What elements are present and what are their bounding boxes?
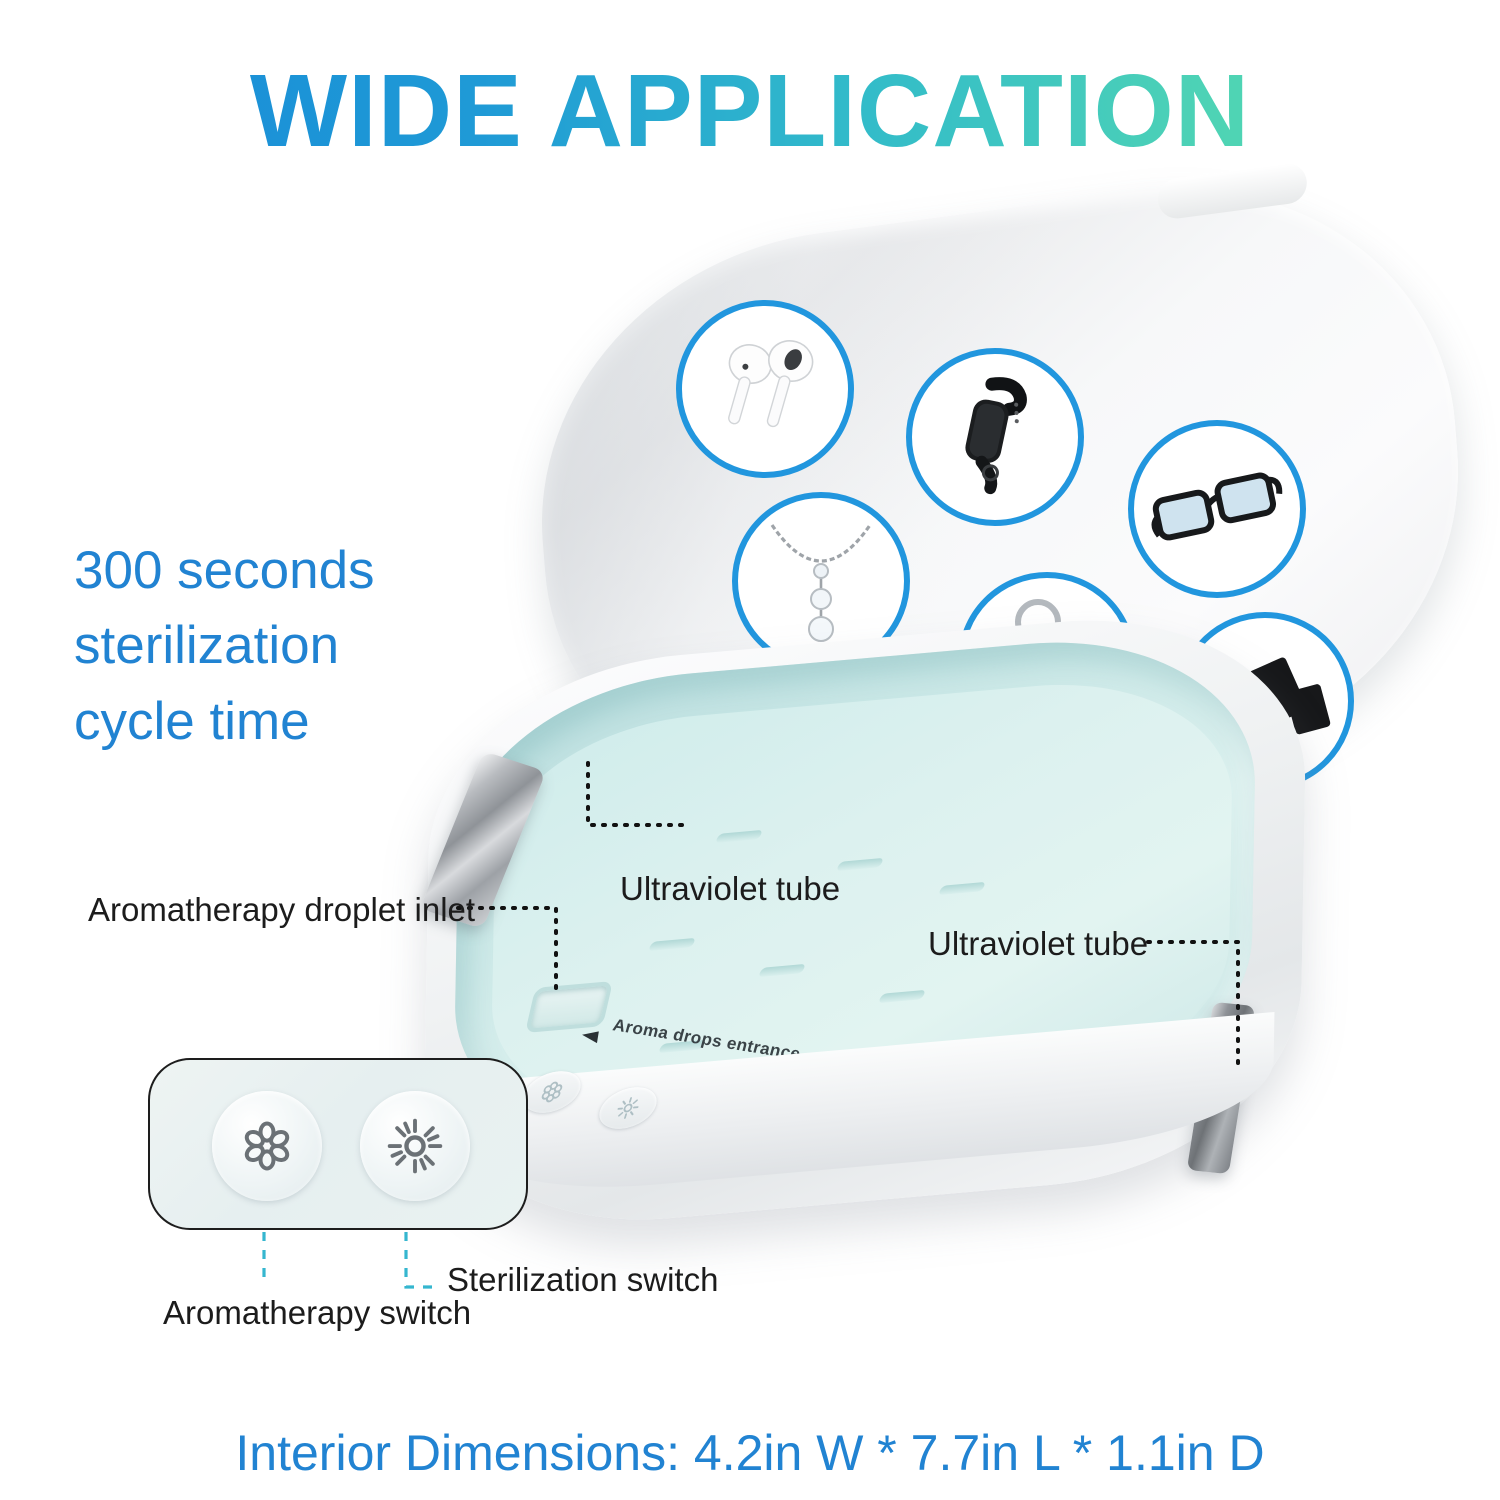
fitness-band-icon (935, 372, 1055, 502)
interior-dimensions: Interior Dimensions: 4.2in W * 7.7in L *… (0, 1424, 1500, 1482)
necklace-icon (756, 511, 886, 651)
callout-aromatherapy-switch: Aromatherapy switch (163, 1294, 471, 1332)
panel-sterilization-switch[interactable] (360, 1091, 470, 1201)
flower-icon (236, 1115, 298, 1177)
callout-sterilization-switch: Sterilization switch (447, 1261, 718, 1299)
callout-uv-tube-right: Ultraviolet tube (928, 925, 1148, 963)
callout-uv-tube-left: Ultraviolet tube (620, 870, 840, 908)
product-illustration: Aroma drops entrance (0, 0, 1500, 1500)
aroma-arrow-icon (581, 1029, 599, 1043)
sun-icon (612, 1095, 643, 1122)
callout-aromatherapy-inlet: Aromatherapy droplet inlet (88, 891, 475, 929)
application-circle-earbuds (676, 300, 854, 478)
application-circle-fitness-tracker (906, 348, 1084, 526)
application-circle-eyeglasses (1128, 420, 1306, 598)
sun-icon (384, 1115, 446, 1177)
switch-panel (148, 1058, 528, 1230)
panel-aromatherapy-switch[interactable] (212, 1091, 322, 1201)
flower-icon (536, 1079, 567, 1106)
earbuds-icon (700, 329, 830, 449)
eyeglasses-icon (1147, 459, 1287, 559)
infographic-canvas: WIDE APPLICATION 300 seconds sterilizati… (0, 0, 1500, 1500)
